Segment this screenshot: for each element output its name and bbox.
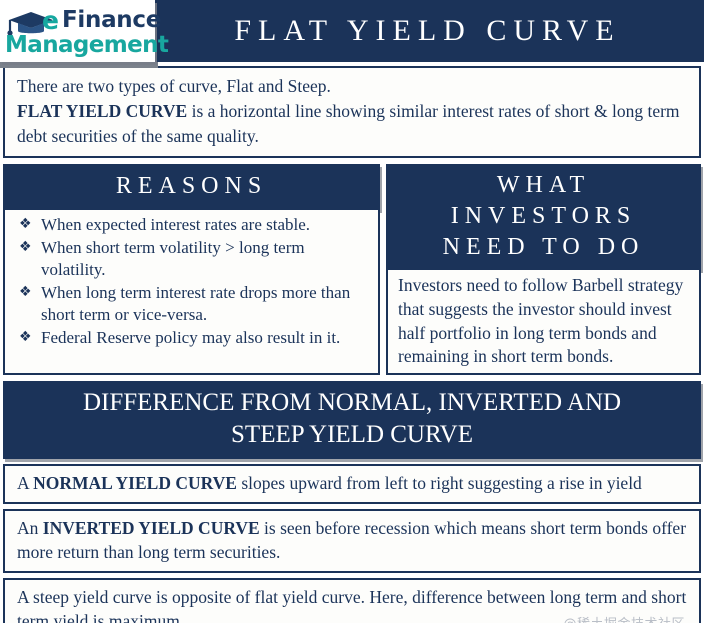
investors-body: Investors need to follow Barbell strateg… <box>386 270 701 375</box>
diamond-bullet-icon: ❖ <box>19 283 32 302</box>
list-item-text: Federal Reserve policy may also result i… <box>41 328 340 347</box>
investors-heading-line-1: WHAT <box>390 170 697 201</box>
difference-heading-line-2: STEEP YIELD CURVE <box>15 419 689 451</box>
note-prefix: A <box>17 473 33 493</box>
header-bar: e Finance Management FLAT YIELD CURVE <box>0 0 704 62</box>
note-rest: slopes upward from left to right suggest… <box>237 473 642 493</box>
infographic-page: e Finance Management FLAT YIELD CURVE Th… <box>0 0 704 623</box>
intro-bold-term: FLAT YIELD CURVE <box>17 101 187 121</box>
diamond-bullet-icon: ❖ <box>19 238 32 257</box>
note-bold-term: NORMAL YIELD CURVE <box>33 473 237 493</box>
note-inverted-yield-curve: An INVERTED YIELD CURVE is seen before r… <box>3 509 701 573</box>
brand-logo[interactable]: e Finance Management <box>0 0 155 62</box>
reasons-body: ❖When expected interest rates are stable… <box>3 210 380 376</box>
logo-shadow-bar <box>0 62 158 68</box>
logo-finance-text: Finance <box>62 9 161 32</box>
difference-heading-line-1: DIFFERENCE FROM NORMAL, INVERTED AND <box>15 387 689 419</box>
difference-banner: DIFFERENCE FROM NORMAL, INVERTED AND STE… <box>3 381 701 459</box>
intro-line-2: FLAT YIELD CURVE is a horizontal line sh… <box>17 99 689 149</box>
list-item: ❖When expected interest rates are stable… <box>11 214 370 236</box>
reasons-column: REASONS ❖When expected interest rates ar… <box>3 164 380 376</box>
intro-block: There are two types of curve, Flat and S… <box>3 66 701 158</box>
watermark: @稀土掘金技术社区 <box>563 616 685 623</box>
list-item: ❖Federal Reserve policy may also result … <box>11 327 370 349</box>
list-item: ❖When short term volatility > long term … <box>11 237 370 281</box>
investors-heading: WHAT INVESTORS NEED TO DO <box>386 164 701 271</box>
diamond-bullet-icon: ❖ <box>19 215 32 234</box>
list-item-text: When expected interest rates are stable. <box>41 215 310 234</box>
note-prefix: An <box>17 518 43 538</box>
note-normal-yield-curve: A NORMAL YIELD CURVE slopes upward from … <box>3 464 701 504</box>
note-bold-term: INVERTED YIELD CURVE <box>43 518 260 538</box>
list-item: ❖When long term interest rate drops more… <box>11 282 370 326</box>
logo-management-text: Management <box>5 34 168 57</box>
two-column-section: REASONS ❖When expected interest rates ar… <box>3 164 701 376</box>
investors-heading-line-3: NEED TO DO <box>390 232 697 263</box>
diamond-bullet-icon: ❖ <box>19 328 32 347</box>
logo-e-letter: e <box>42 8 59 33</box>
reasons-list: ❖When expected interest rates are stable… <box>11 214 370 350</box>
logo-inner: e Finance Management <box>0 0 155 62</box>
investors-column: WHAT INVESTORS NEED TO DO Investors need… <box>386 164 701 376</box>
list-item-text: When long term interest rate drops more … <box>41 283 350 324</box>
reasons-heading: REASONS <box>3 164 380 210</box>
page-title: FLAT YIELD CURVE <box>155 0 704 62</box>
investors-heading-line-2: INVESTORS <box>390 201 697 232</box>
note-steep-yield-curve: A steep yield curve is opposite of flat … <box>3 578 701 623</box>
list-item-text: When short term volatility > long term v… <box>41 238 305 279</box>
intro-line-1: There are two types of curve, Flat and S… <box>17 74 689 99</box>
